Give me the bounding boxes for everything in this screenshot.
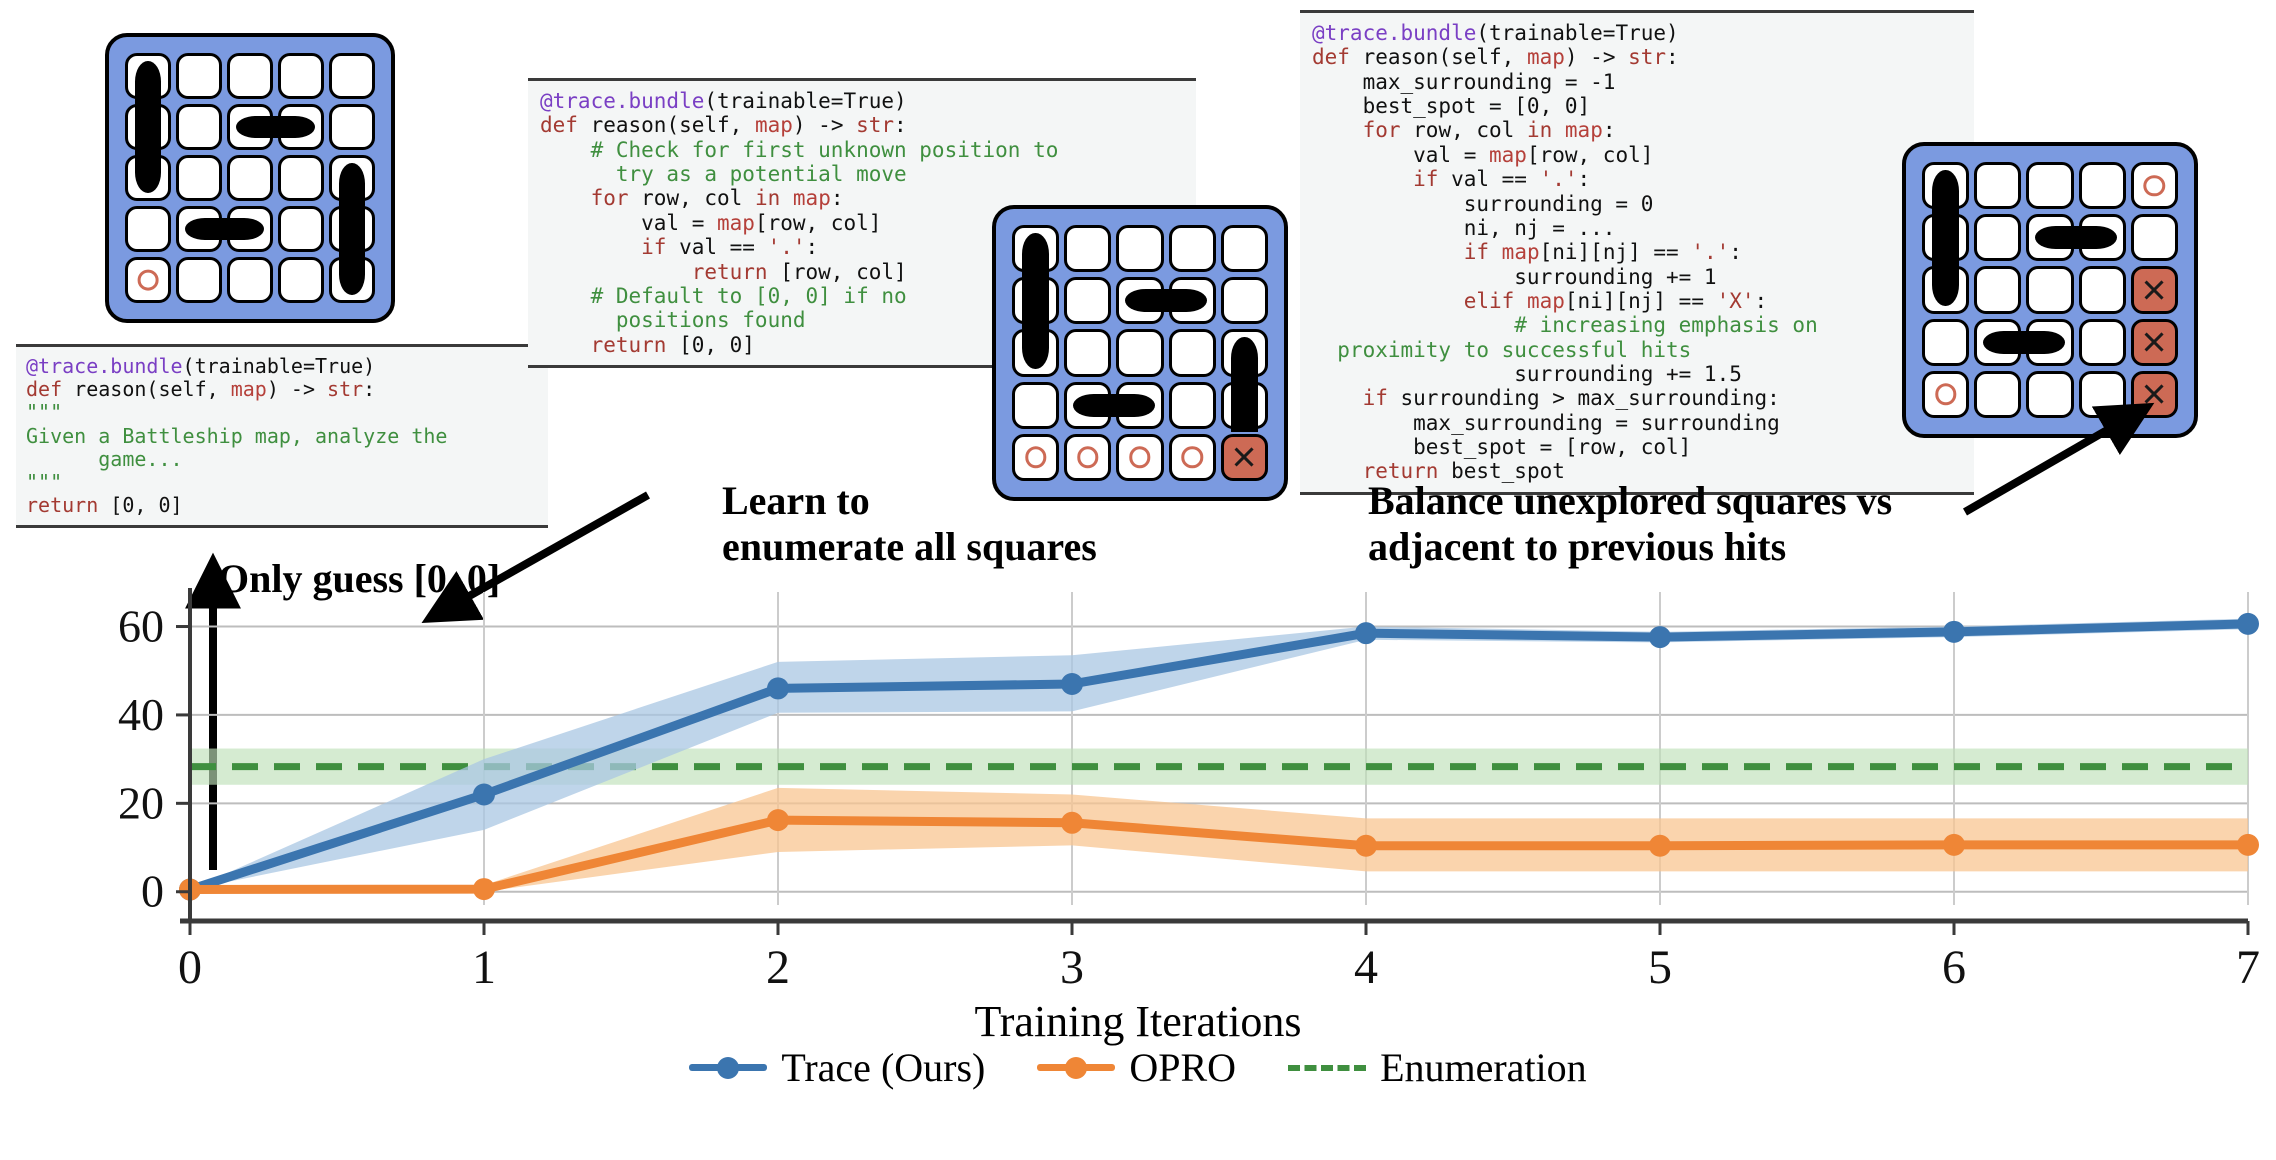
board-cell-ship-h-right bbox=[2026, 319, 2073, 366]
board-cell-empty bbox=[2079, 266, 2126, 313]
board-cell-ship-v-bot bbox=[329, 257, 375, 303]
plot-area: 020406001234567 bbox=[0, 560, 2276, 1020]
legend-item-enumeration: Enumeration bbox=[1288, 1044, 1587, 1091]
battleship-board-balance bbox=[1902, 142, 2198, 438]
annotation-balance-line1: Balance unexplored squares vs bbox=[1368, 478, 1892, 524]
board-cell-empty bbox=[329, 53, 375, 99]
board-cell-empty bbox=[1974, 266, 2021, 313]
legend-swatch-enumeration bbox=[1288, 1065, 1366, 1071]
board-cell-ship-v-top bbox=[1221, 329, 1268, 376]
legend-item-trace: Trace (Ours) bbox=[689, 1044, 985, 1091]
board-cell-empty bbox=[1974, 162, 2021, 209]
battleship-board-initial bbox=[105, 33, 395, 323]
board-cell-ship-h-left bbox=[227, 104, 273, 150]
annotation-enumerate-line1: Learn to bbox=[722, 478, 1097, 524]
svg-text:20: 20 bbox=[118, 777, 164, 828]
board-cell-empty bbox=[176, 155, 222, 201]
board-cell-empty bbox=[1169, 329, 1216, 376]
board-cell-empty bbox=[329, 104, 375, 150]
board-cell-empty bbox=[176, 53, 222, 99]
board-cell-empty bbox=[278, 155, 324, 201]
board-cell-ship-h-left bbox=[176, 206, 222, 252]
board-cell-empty bbox=[2026, 371, 2073, 418]
board-cell-ship-h-left bbox=[1974, 319, 2021, 366]
board-cell-ship-v-mid bbox=[1922, 214, 1969, 261]
board-cell-empty bbox=[1012, 382, 1059, 429]
board-cell-hit bbox=[2131, 266, 2178, 313]
board-cell-empty bbox=[2026, 162, 2073, 209]
legend-swatch-opro bbox=[1037, 1064, 1115, 1071]
board-cell-empty bbox=[1064, 225, 1111, 272]
legend-marker-trace bbox=[717, 1057, 739, 1079]
board-cell-ship-v-mid bbox=[1221, 382, 1268, 429]
board-cell-empty bbox=[278, 257, 324, 303]
x-axis-label: Training Iterations bbox=[0, 996, 2276, 1047]
board-cell-ship-v-mid bbox=[329, 206, 375, 252]
board-cell-empty bbox=[278, 206, 324, 252]
board-cell-miss bbox=[2131, 162, 2178, 209]
annotation-enumerate: Learn toenumerate all squares bbox=[722, 478, 1097, 569]
board-cell-ship-v-top bbox=[1922, 162, 1969, 209]
board-cell-ship-v-top bbox=[125, 53, 171, 99]
board-cell-ship-h-left bbox=[1064, 382, 1111, 429]
battleship-board-enumerate bbox=[992, 205, 1288, 501]
board-cell-ship-v-mid bbox=[125, 104, 171, 150]
legend-label-enumeration: Enumeration bbox=[1380, 1044, 1587, 1091]
board-cell-miss bbox=[1116, 434, 1163, 481]
board-cell-empty bbox=[125, 206, 171, 252]
annotation-balance: Balance unexplored squares vsadjacent to… bbox=[1368, 478, 1892, 569]
board-cell-ship-v-bot bbox=[1012, 329, 1059, 376]
board-cell-ship-h-right bbox=[278, 104, 324, 150]
board-cell-ship-h-left bbox=[2026, 214, 2073, 261]
board-cell-ship-v-mid bbox=[1012, 277, 1059, 324]
board-cell-empty bbox=[2079, 162, 2126, 209]
code-block-balance: @trace.bundle(trainable=True) def reason… bbox=[1300, 10, 1974, 495]
board-cell-empty bbox=[1974, 371, 2021, 418]
board-cell-empty bbox=[227, 155, 273, 201]
svg-text:5: 5 bbox=[1648, 941, 1672, 994]
code-block-initial: @trace.bundle(trainable=True) def reason… bbox=[16, 344, 548, 528]
svg-text:7: 7 bbox=[2236, 941, 2260, 994]
board-cell-empty bbox=[278, 53, 324, 99]
svg-text:2: 2 bbox=[766, 941, 790, 994]
board-cell-empty bbox=[2079, 371, 2126, 418]
board-cell-empty bbox=[1116, 329, 1163, 376]
legend-label-opro: OPRO bbox=[1129, 1044, 1236, 1091]
svg-text:3: 3 bbox=[1060, 941, 1084, 994]
board-cell-empty bbox=[1116, 225, 1163, 272]
board-cell-empty bbox=[2026, 266, 2073, 313]
board-cell-ship-v-top bbox=[1012, 225, 1059, 272]
svg-text:1: 1 bbox=[472, 941, 496, 994]
svg-text:40: 40 bbox=[118, 689, 164, 740]
board-cell-empty bbox=[1922, 319, 1969, 366]
board-cell-ship-v-bot bbox=[1922, 266, 1969, 313]
svg-text:6: 6 bbox=[1942, 941, 1966, 994]
board-cell-empty bbox=[1221, 225, 1268, 272]
board-cell-empty bbox=[1169, 382, 1216, 429]
svg-text:0: 0 bbox=[141, 866, 164, 917]
board-cell-ship-v-bot bbox=[125, 155, 171, 201]
legend-swatch-trace bbox=[689, 1064, 767, 1071]
board-cell-empty bbox=[2131, 214, 2178, 261]
code-balance-text: @trace.bundle(trainable=True) def reason… bbox=[1312, 21, 1818, 483]
legend-marker-opro bbox=[1065, 1057, 1087, 1079]
board-cell-miss bbox=[1064, 434, 1111, 481]
board-cell-empty bbox=[227, 257, 273, 303]
board-cell-empty bbox=[227, 53, 273, 99]
board-cell-empty bbox=[1064, 277, 1111, 324]
board-cell-miss bbox=[1169, 434, 1216, 481]
board-cell-empty bbox=[1064, 329, 1111, 376]
code-initial-text: @trace.bundle(trainable=True) def reason… bbox=[26, 354, 447, 517]
board-cell-hit bbox=[2131, 371, 2178, 418]
board-cell-empty bbox=[2079, 319, 2126, 366]
legend-label-trace: Trace (Ours) bbox=[781, 1044, 985, 1091]
chart-legend: Trace (Ours) OPRO Enumeration bbox=[0, 1044, 2276, 1091]
legend-item-opro: OPRO bbox=[1037, 1044, 1236, 1091]
board-cell-ship-h-right bbox=[227, 206, 273, 252]
board-cell-empty bbox=[176, 257, 222, 303]
board-cell-miss bbox=[1012, 434, 1059, 481]
board-cell-empty bbox=[1974, 214, 2021, 261]
board-cell-hit bbox=[1221, 434, 1268, 481]
board-cell-ship-v-top bbox=[329, 155, 375, 201]
code-enumerate-text: @trace.bundle(trainable=True) def reason… bbox=[540, 89, 1058, 357]
board-cell-empty bbox=[176, 104, 222, 150]
board-cell-ship-h-right bbox=[2079, 214, 2126, 261]
board-cell-ship-h-right bbox=[1116, 382, 1163, 429]
svg-text:4: 4 bbox=[1354, 941, 1378, 994]
board-cell-hit bbox=[2131, 319, 2178, 366]
svg-text:60: 60 bbox=[118, 601, 164, 652]
board-cell-miss bbox=[125, 257, 171, 303]
board-cell-empty bbox=[1169, 225, 1216, 272]
board-cell-empty bbox=[1221, 277, 1268, 324]
svg-text:0: 0 bbox=[178, 941, 202, 994]
board-cell-ship-h-right bbox=[1169, 277, 1216, 324]
board-cell-miss bbox=[1922, 371, 1969, 418]
board-cell-ship-h-left bbox=[1116, 277, 1163, 324]
